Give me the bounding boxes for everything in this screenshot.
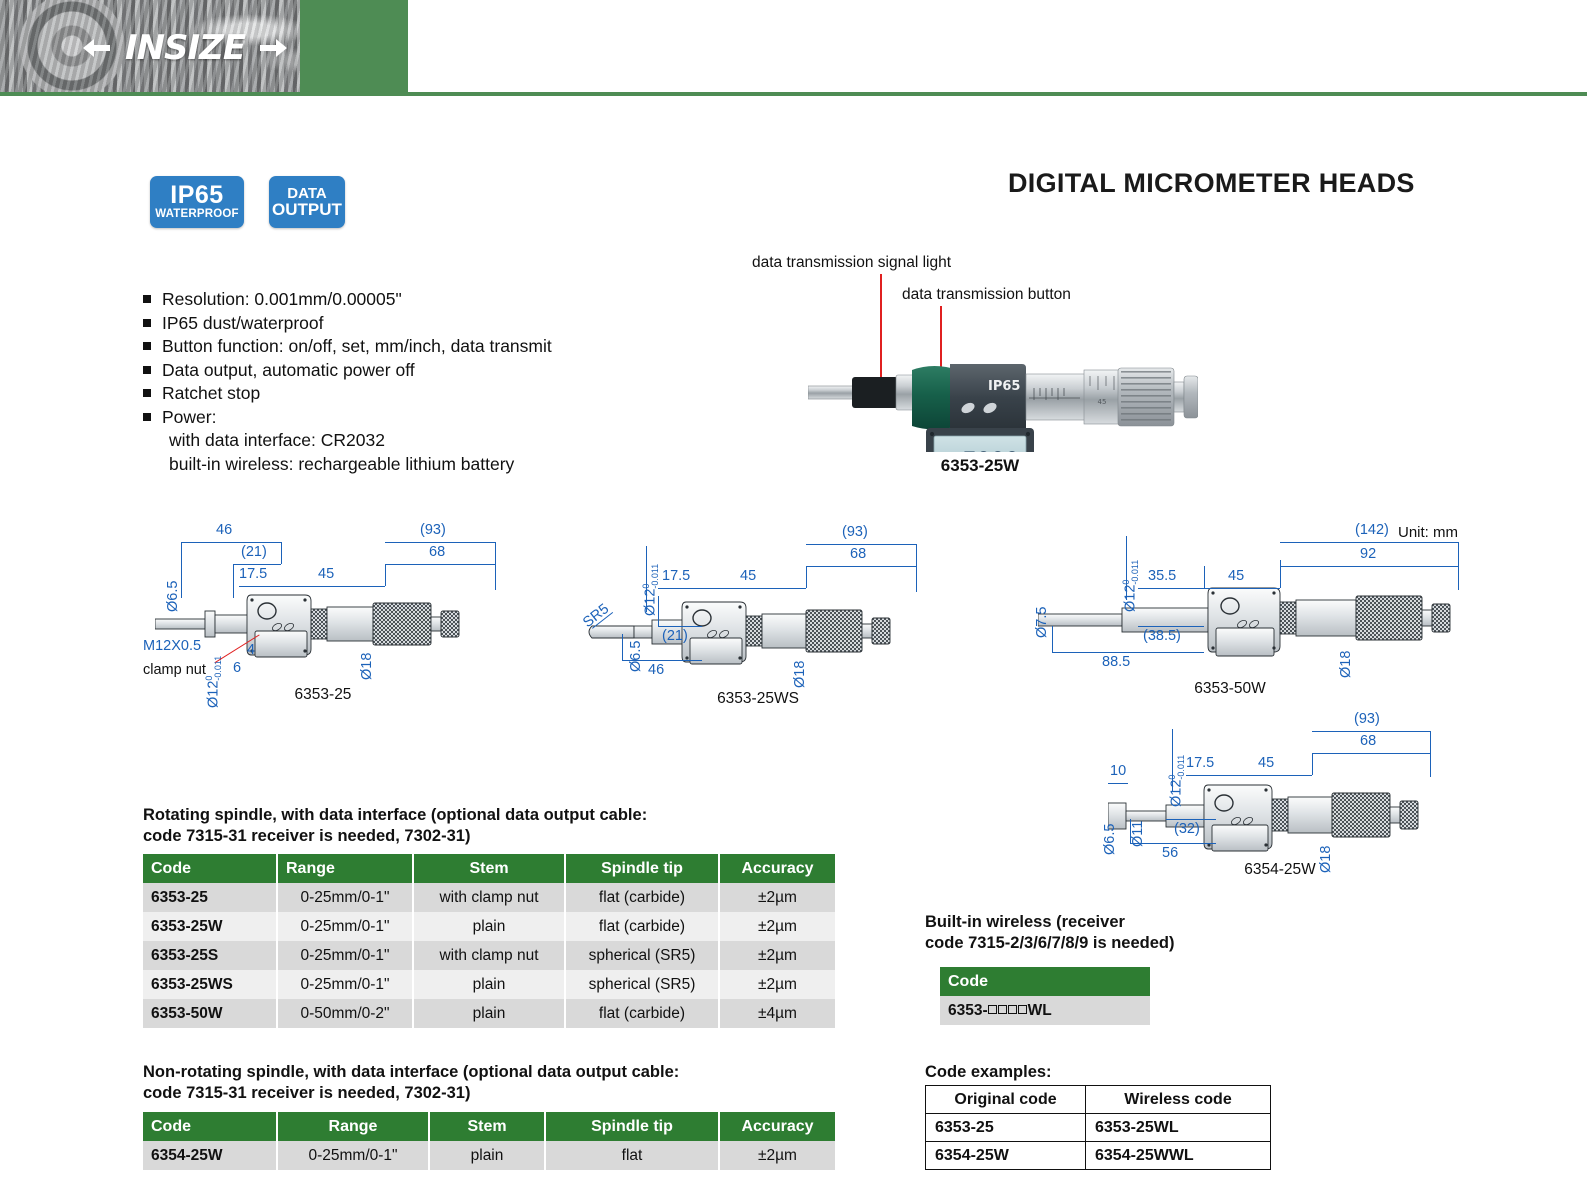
feature-list: Resolution: 0.001mm/0.00005" IP65 dust/w…: [143, 288, 703, 476]
bullet-square-icon: [143, 342, 151, 350]
dim-value: (32): [1174, 821, 1200, 837]
logo-left-arrow-icon: [81, 37, 111, 59]
column-header-accuracy: Accuracy: [719, 1112, 835, 1141]
cell-code: 6353-25W: [143, 912, 277, 941]
drawing-6354-25W: 10 Ø6.5 Ø11 Ø120-0.011 (32) 56 17.5 45 (…: [1100, 715, 1500, 885]
dim-tolerance-stack: Ø120-0.011: [205, 656, 222, 708]
svg-text:IP65: IP65: [988, 379, 1020, 394]
dim-value: 56: [1162, 845, 1178, 861]
feature-text: Ratchet stop: [162, 382, 260, 406]
code-prefix: 6353-: [948, 1002, 988, 1019]
dim-value-diameter: Ø18: [359, 653, 375, 680]
dim-tolerance-lower: -0.011: [650, 564, 660, 589]
table-row: 6353-25WS 0-25mm/0-1" plain spherical (S…: [143, 970, 835, 999]
table-header-row: Code Range Stem Spindle tip Accuracy: [143, 1112, 835, 1141]
table-row: 6353-50W 0-50mm/0-2" plain flat (carbide…: [143, 999, 835, 1028]
dim-value: 88.5: [1102, 654, 1130, 670]
table-header-row: Original code Wireless code: [926, 1086, 1271, 1114]
logo-right-arrow-icon: [259, 37, 289, 59]
dim-value: (93): [420, 522, 446, 538]
dim-value-diameter: Ø6.5: [628, 641, 644, 672]
page-banner: INSIZE: [0, 0, 1587, 96]
dim-value: 17.5: [662, 568, 690, 584]
cell-stem: with clamp nut: [413, 883, 565, 912]
dim-value: 17.5: [1186, 755, 1214, 771]
cell-stem: plain: [413, 999, 565, 1028]
cell-accuracy: ±2µm: [719, 941, 835, 970]
table-row: 6353-25W 0-25mm/0-1" plain flat (carbide…: [143, 912, 835, 941]
feature-text: Resolution: 0.001mm/0.00005": [162, 288, 402, 312]
table-row: 6353-25 0-25mm/0-1" with clamp nut flat …: [143, 883, 835, 912]
dim-value: 68: [429, 544, 445, 560]
cell-spindle-tip: flat (carbide): [565, 883, 719, 912]
column-header-accuracy: Accuracy: [719, 854, 835, 883]
code-examples-heading: Code examples:: [925, 1062, 1225, 1083]
callout-signal-light-label: data transmission signal light: [752, 254, 951, 272]
feature-item: Ratchet stop: [143, 382, 703, 406]
nonrotating-spindle-table: Code Range Stem Spindle tip Accuracy 635…: [143, 1112, 835, 1170]
feature-item: Resolution: 0.001mm/0.00005": [143, 288, 703, 312]
column-header-code: Code: [143, 1112, 277, 1141]
dim-value: 4: [247, 642, 255, 658]
rotating-spindle-heading: Rotating spindle, with data interface (o…: [143, 805, 843, 847]
column-header-original-code: Original code: [926, 1086, 1086, 1114]
bullet-square-icon: [143, 295, 151, 303]
bullet-square-icon: [143, 366, 151, 374]
feature-text: Button function: on/off, set, mm/inch, d…: [162, 335, 552, 359]
badge-data-line1: DATA: [287, 186, 326, 201]
cell-accuracy: ±2µm: [719, 883, 835, 912]
cell-range: 0-25mm/0-1": [277, 941, 413, 970]
dim-tolerance-base: Ø12: [205, 681, 221, 708]
thread-label: M12X0.5: [143, 638, 201, 654]
badge-data-output: DATA OUTPUT: [269, 176, 345, 228]
cell-range: 0-25mm/0-1": [277, 1141, 429, 1170]
dim-tolerance-base: Ø12: [1122, 585, 1138, 612]
cell-accuracy: ±2µm: [719, 970, 835, 999]
cell-range: 0-25mm/0-1": [277, 970, 413, 999]
wireless-heading: Built-in wireless (receiver code 7315-2/…: [925, 912, 1345, 954]
dim-value: (21): [662, 628, 688, 644]
dim-tolerance-stack: Ø120-0.011: [1168, 755, 1185, 807]
cell-range: 0-25mm/0-1": [277, 883, 413, 912]
cell-range: 0-25mm/0-1": [277, 912, 413, 941]
cell-original-code: 6354-25W: [926, 1142, 1086, 1170]
column-header-spindle-tip: Spindle tip: [565, 854, 719, 883]
dim-value-diameter: Ø6.5: [165, 581, 181, 612]
dim-tolerance-stack: Ø120-0.011: [642, 564, 659, 616]
feature-text: Power:: [162, 406, 216, 430]
dim-value-diameter: Ø7.5: [1034, 607, 1050, 638]
cell-code: 6353-25: [143, 883, 277, 912]
badge-ip65-line2: WATERPROOF: [155, 209, 239, 221]
badge-data-line2: OUTPUT: [272, 201, 342, 218]
dim-value: 92: [1360, 546, 1376, 562]
feature-sub-text: with data interface: CR2032: [169, 429, 703, 453]
cell-accuracy: ±4µm: [719, 999, 835, 1028]
column-header-spindle-tip: Spindle tip: [545, 1112, 719, 1141]
rotating-heading-line2: code 7315-31 receiver is needed, 7302-31…: [143, 826, 843, 847]
cell-accuracy: ±2µm: [719, 1141, 835, 1170]
dim-tolerance-lower: -0.011: [1130, 560, 1140, 585]
svg-text:45: 45: [1098, 398, 1107, 406]
dim-value-diameter: Ø18: [792, 661, 808, 688]
cell-stem: plain: [413, 970, 565, 999]
dim-value: 45: [1228, 568, 1244, 584]
dim-value: 68: [1360, 733, 1376, 749]
column-header-wireless-code: Wireless code: [1086, 1086, 1271, 1114]
cell-spindle-tip: flat: [545, 1141, 719, 1170]
table-row: 6354-25W 0-25mm/0-1" plain flat ±2µm: [143, 1141, 835, 1170]
table-header-row: Code Range Stem Spindle tip Accuracy: [143, 854, 835, 883]
drawing-6353-25WS: SR5 Ø120-0.011 Ø6.5 (21) 46 17.5 45 (93)…: [580, 530, 950, 710]
dim-value: (93): [842, 524, 868, 540]
feature-text: Data output, automatic power off: [162, 359, 415, 383]
cell-code: 6354-25W: [143, 1141, 277, 1170]
cell-spindle-tip: flat (carbide): [565, 999, 719, 1028]
dim-value: 45: [318, 566, 334, 582]
badge-ip65-line1: IP65: [170, 183, 223, 209]
cell-stem: with clamp nut: [413, 941, 565, 970]
rotating-heading-line1: Rotating spindle, with data interface (o…: [143, 805, 843, 826]
code-suffix: WL: [1028, 1002, 1052, 1019]
bullet-square-icon: [143, 413, 151, 421]
feature-item: IP65 dust/waterproof: [143, 312, 703, 336]
table-row: 6353-WL: [940, 996, 1150, 1025]
column-header-code: Code: [143, 854, 277, 883]
cell-code: 6353-50W: [143, 999, 277, 1028]
column-header-range: Range: [277, 1112, 429, 1141]
bullet-square-icon: [143, 319, 151, 327]
cell-wireless-code: 6353-25WL: [1086, 1114, 1271, 1142]
drawing-caption: 6353-50W: [1140, 680, 1320, 698]
drawing-caption: 6354-25W: [1190, 861, 1370, 879]
table-header-row: Code: [940, 967, 1150, 996]
cell-wireless-code: 6354-25WWL: [1086, 1142, 1271, 1170]
dim-tolerance-stack: Ø120-0.011: [1122, 560, 1139, 612]
dim-value: 46: [648, 662, 664, 678]
cell-stem: plain: [413, 912, 565, 941]
micrometer-head-photo: IP65 7999 45: [808, 342, 1198, 452]
code-placeholder-box: [1018, 1005, 1027, 1014]
insize-logo: INSIZE: [95, 26, 275, 70]
cell-accuracy: ±2µm: [719, 912, 835, 941]
cell-original-code: 6353-25: [926, 1114, 1086, 1142]
table-row: 6353-25 6353-25WL: [926, 1114, 1271, 1142]
cell-code: 6353-25S: [143, 941, 277, 970]
dim-value-diameter: Ø18: [1338, 651, 1354, 678]
insize-logo-text: INSIZE: [125, 28, 245, 68]
callout-transmission-button-label: data transmission button: [902, 286, 1071, 304]
dim-value: (142): [1355, 522, 1389, 538]
dim-value: 45: [740, 568, 756, 584]
dim-value-diameter: Ø6.5: [1102, 824, 1118, 855]
code-placeholder-box: [988, 1005, 997, 1014]
banner-white-area: [408, 0, 1587, 92]
dim-tolerance-lower: -0.011: [1176, 755, 1186, 780]
dim-tolerance-base: Ø12: [642, 589, 658, 616]
column-header-code: Code: [940, 967, 1150, 996]
nonrotating-spindle-heading: Non-rotating spindle, with data interfac…: [143, 1062, 843, 1104]
dim-value: 17.5: [239, 566, 267, 582]
wireless-heading-line2: code 7315-2/3/6/7/8/9 is needed): [925, 933, 1345, 954]
dim-value: 68: [850, 546, 866, 562]
photo-caption: 6353-25W: [870, 456, 1090, 476]
nonrotating-heading-line1: Non-rotating spindle, with data interfac…: [143, 1062, 843, 1083]
dim-value: 6: [233, 660, 241, 676]
feature-text: IP65 dust/waterproof: [162, 312, 323, 336]
cell-spindle-tip: spherical (SR5): [565, 970, 719, 999]
feature-sub-text: built-in wireless: rechargeable lithium …: [169, 453, 703, 477]
product-photo-block: data transmission signal light data tran…: [700, 250, 1260, 480]
cell-wireless-code-pattern: 6353-WL: [940, 996, 1150, 1025]
code-placeholder-box: [1008, 1005, 1017, 1014]
dim-value: 35.5: [1148, 568, 1176, 584]
dim-value: 46: [216, 522, 232, 538]
dim-value: (93): [1354, 711, 1380, 727]
svg-text:7999: 7999: [963, 449, 1020, 452]
dim-value: 45: [1258, 755, 1274, 771]
wireless-code-table: Code 6353-WL: [940, 967, 1150, 1025]
drawing-6353-50W: Ø7.5 Ø120-0.011 35.5 (38.5) 88.5 45 (142…: [1030, 520, 1500, 700]
rotating-spindle-table: Code Range Stem Spindle tip Accuracy 635…: [143, 854, 835, 1028]
cell-code: 6353-25WS: [143, 970, 277, 999]
dim-value: (38.5): [1143, 628, 1181, 644]
feature-item: Button function: on/off, set, mm/inch, d…: [143, 335, 703, 359]
dim-tolerance-base: Ø12: [1168, 780, 1184, 807]
drawing-caption: 6353-25: [233, 686, 413, 704]
cell-range: 0-50mm/0-2": [277, 999, 413, 1028]
unit-note: Unit: mm: [1398, 524, 1458, 541]
code-examples-table: Original code Wireless code 6353-25 6353…: [925, 1085, 1271, 1170]
bullet-square-icon: [143, 389, 151, 397]
cell-spindle-tip: flat (carbide): [565, 912, 719, 941]
drawing-caption: 6353-25WS: [668, 690, 848, 708]
dim-value: 10: [1110, 763, 1126, 779]
column-header-range: Range: [277, 854, 413, 883]
feature-item: Data output, automatic power off: [143, 359, 703, 383]
column-header-stem: Stem: [429, 1112, 545, 1141]
wireless-heading-line1: Built-in wireless (receiver: [925, 912, 1345, 933]
feature-item: Power:: [143, 406, 703, 430]
code-placeholder-box: [998, 1005, 1007, 1014]
dim-value: (21): [241, 544, 267, 560]
table-row: 6353-25S 0-25mm/0-1" with clamp nut sphe…: [143, 941, 835, 970]
banner-bottom-rule: [0, 92, 1587, 96]
page-title: DIGITAL MICROMETER HEADS: [1008, 168, 1488, 199]
clamp-nut-label: clamp nut: [143, 662, 206, 678]
drawing-6353-25: 46 (21) 17.5 45 (93) 68 Ø6.5 Ø18 4 6 Ø12…: [143, 520, 493, 710]
badge-ip65-waterproof: IP65 WATERPROOF: [150, 176, 244, 228]
nonrotating-heading-line2: code 7315-31 receiver is needed, 7302-31…: [143, 1083, 843, 1104]
column-header-stem: Stem: [413, 854, 565, 883]
cell-stem: plain: [429, 1141, 545, 1170]
cell-spindle-tip: spherical (SR5): [565, 941, 719, 970]
table-row: 6354-25W 6354-25WWL: [926, 1142, 1271, 1170]
